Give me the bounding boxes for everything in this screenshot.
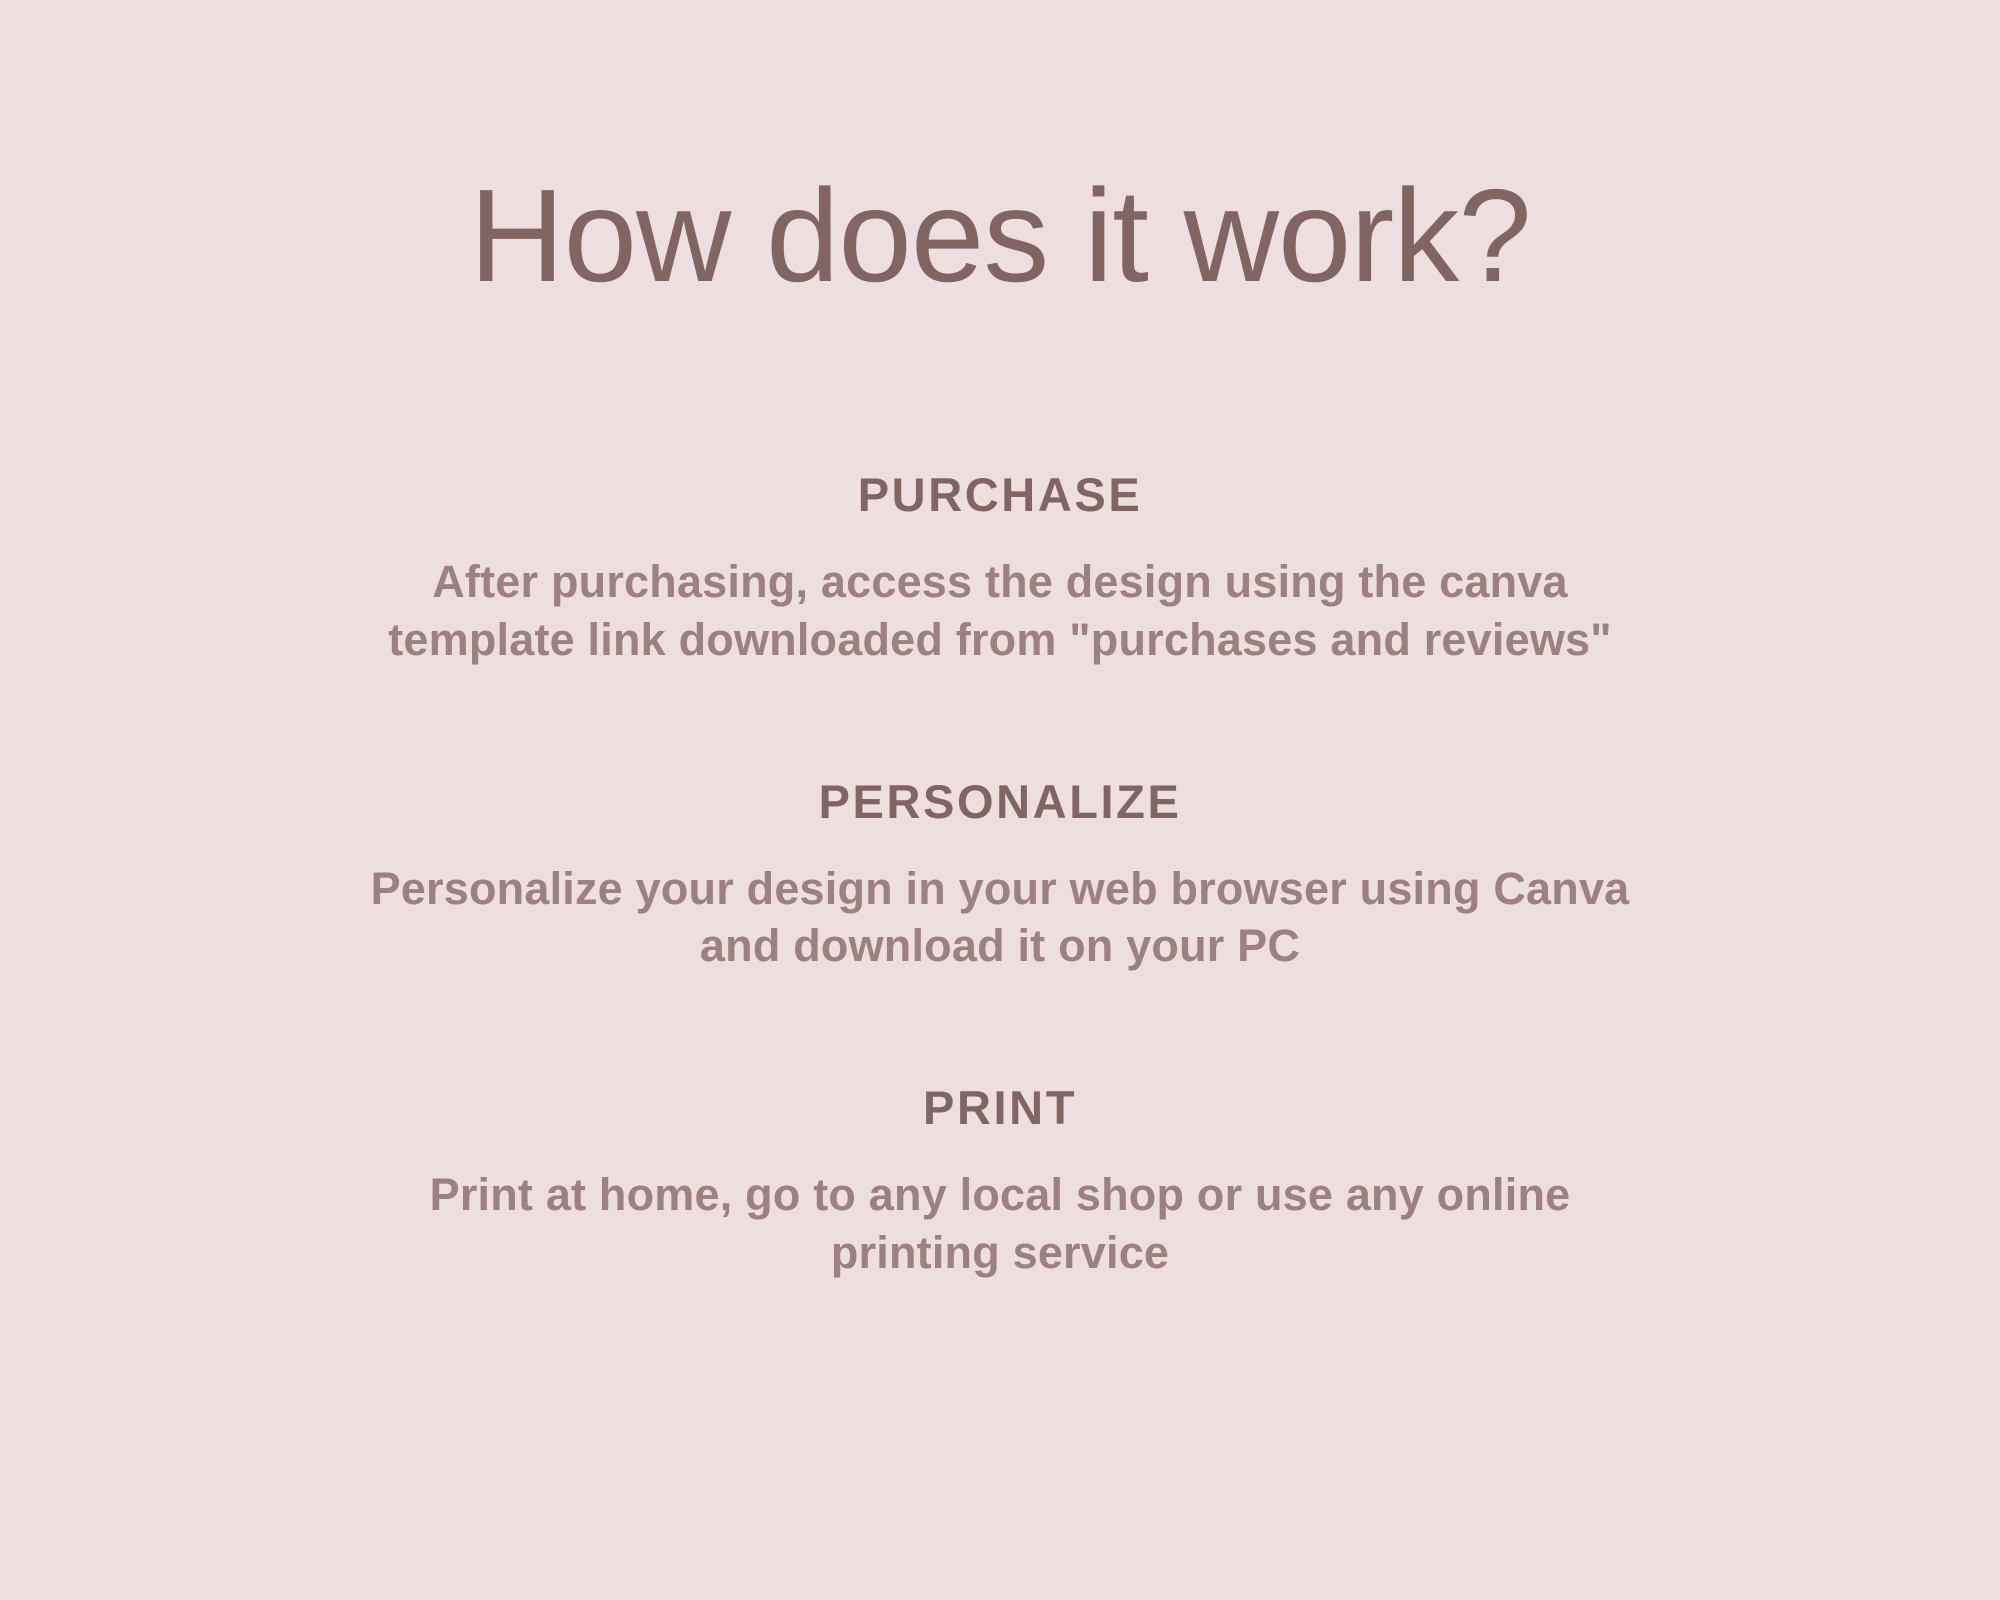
step-body-personalize: Personalize your design in your web brow… bbox=[180, 860, 1820, 975]
step-body-print: Print at home, go to any local shop or u… bbox=[180, 1166, 1820, 1281]
step-body-purchase: After purchasing, access the design usin… bbox=[180, 553, 1820, 668]
step-title-purchase: PURCHASE bbox=[0, 470, 2000, 519]
how-it-works-poster: How does it work? PURCHASE After purchas… bbox=[0, 0, 2000, 1600]
step-title-personalize: PERSONALIZE bbox=[0, 777, 2000, 826]
step-print: PRINT Print at home, go to any local sho… bbox=[0, 1083, 2000, 1282]
step-body-purchase-line-1: After purchasing, access the design usin… bbox=[180, 553, 1820, 611]
step-body-personalize-line-1: Personalize your design in your web brow… bbox=[180, 860, 1820, 918]
step-body-print-line-2: printing service bbox=[180, 1224, 1820, 1282]
step-personalize: PERSONALIZE Personalize your design in y… bbox=[0, 777, 2000, 976]
step-body-print-line-1: Print at home, go to any local shop or u… bbox=[180, 1166, 1820, 1224]
step-body-personalize-line-2: and download it on your PC bbox=[180, 917, 1820, 975]
step-purchase: PURCHASE After purchasing, access the de… bbox=[0, 470, 2000, 669]
step-title-print: PRINT bbox=[0, 1083, 2000, 1132]
page-title: How does it work? bbox=[0, 170, 2000, 302]
steps-list: PURCHASE After purchasing, access the de… bbox=[0, 470, 2000, 1282]
step-body-purchase-line-2: template link downloaded from "purchases… bbox=[180, 611, 1820, 669]
